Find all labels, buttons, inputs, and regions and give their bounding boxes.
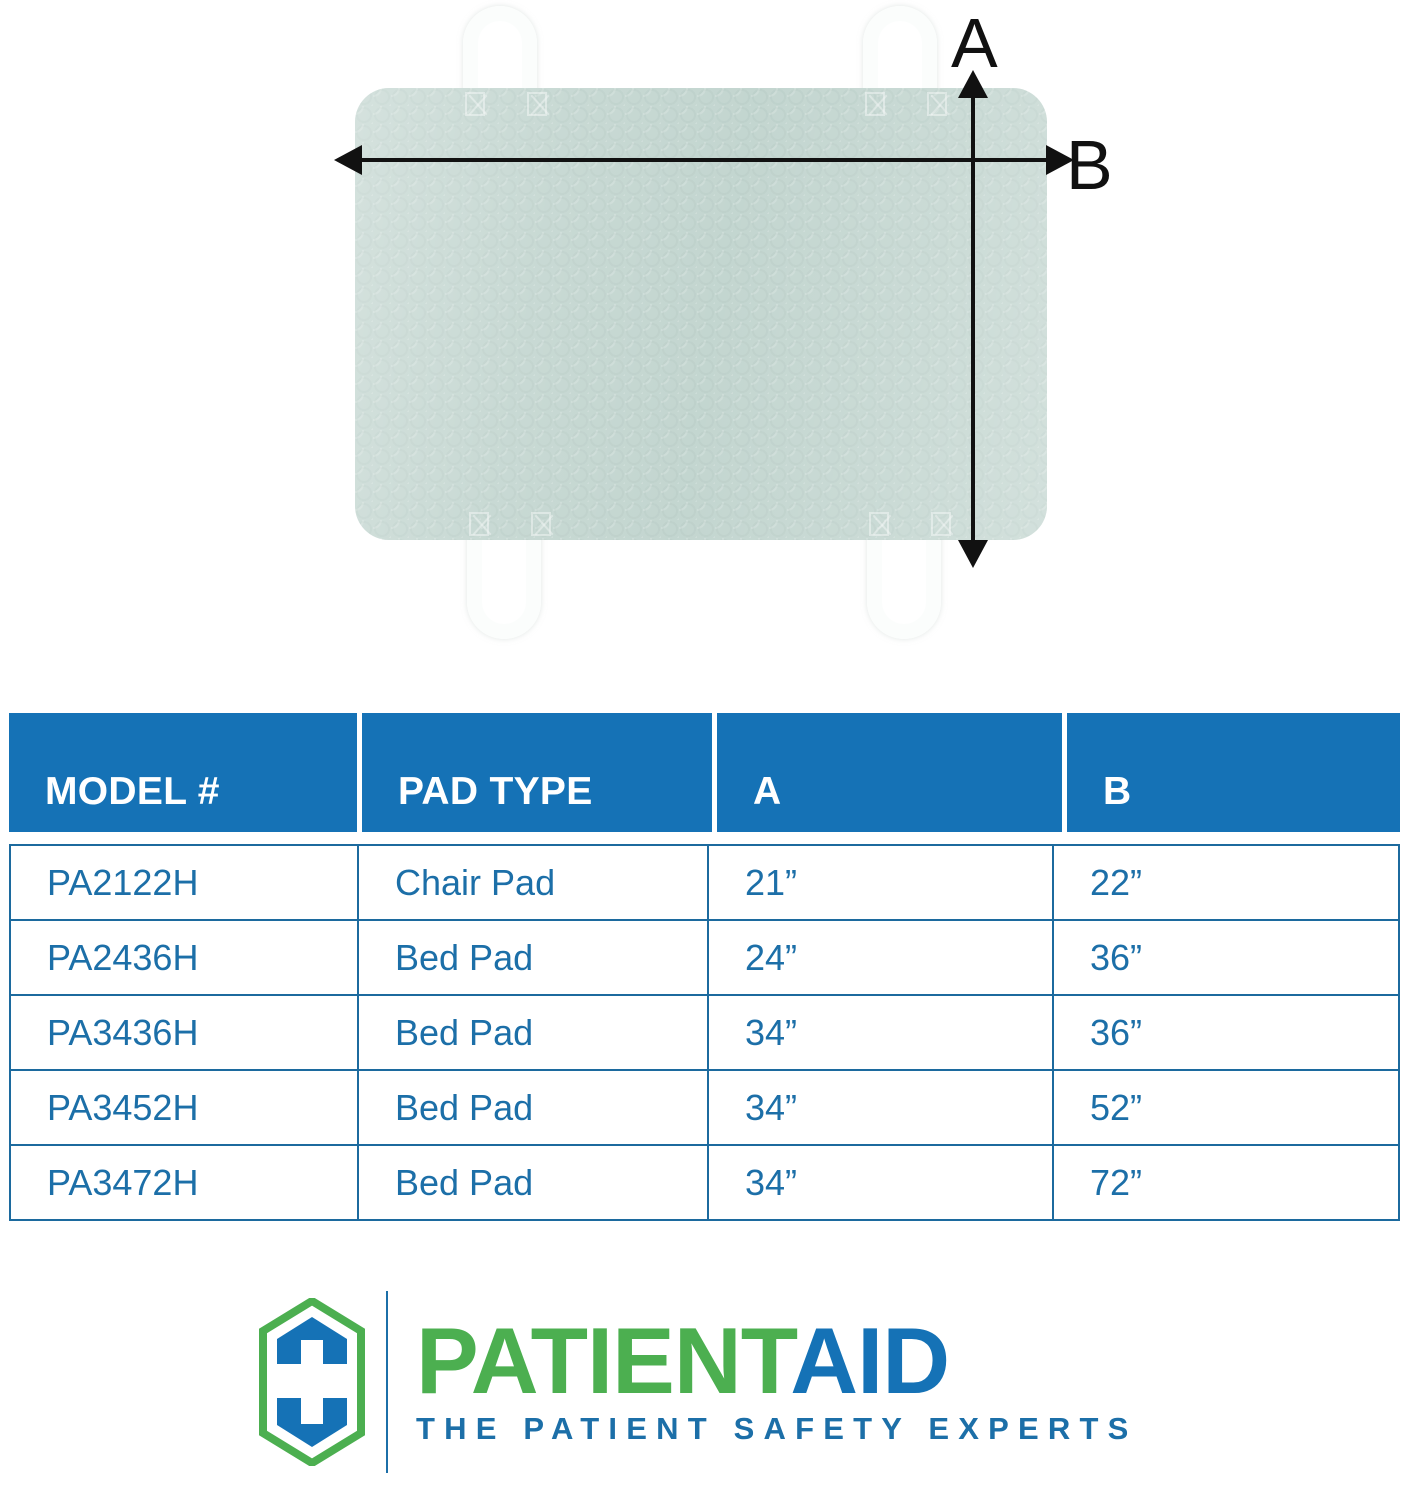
pad-stitch-tab: [927, 92, 947, 116]
pad-stitch-tab: [531, 512, 551, 536]
cell-pad-type: Bed Pad: [359, 1071, 709, 1144]
cell-dim-b: 36”: [1054, 996, 1398, 1069]
table-row: PA3472H Bed Pad 34” 72”: [11, 1146, 1398, 1219]
table-row: PA3436H Bed Pad 34” 36”: [11, 996, 1398, 1071]
cell-dim-b: 36”: [1054, 921, 1398, 994]
logo-word-aid: AID: [790, 1308, 949, 1413]
arrow-head-left-icon: [334, 145, 362, 175]
pad-stitch-tab: [869, 512, 889, 536]
cell-pad-type: Bed Pad: [359, 1146, 709, 1219]
arrow-head-down-icon: [958, 540, 988, 568]
cell-dim-b: 72”: [1054, 1146, 1398, 1219]
column-header-a: A: [717, 713, 1062, 832]
table-row: PA2436H Bed Pad 24” 36”: [11, 921, 1398, 996]
cell-pad-type: Bed Pad: [359, 921, 709, 994]
logo-divider: [386, 1291, 388, 1473]
cell-model: PA2436H: [11, 921, 359, 994]
pad-handle-bottom-left: [467, 527, 541, 639]
cell-dim-a: 34”: [709, 1146, 1054, 1219]
cell-dim-a: 34”: [709, 996, 1054, 1069]
logo-tagline: THE PATIENT SAFETY EXPERTS: [416, 1411, 1158, 1447]
cell-model: PA3452H: [11, 1071, 359, 1144]
medical-cross-hexagon-icon: [258, 1298, 366, 1466]
positioning-pad-body: [355, 88, 1047, 540]
cell-dim-a: 34”: [709, 1071, 1054, 1144]
cell-pad-type: Bed Pad: [359, 996, 709, 1069]
cell-pad-type: Chair Pad: [359, 846, 709, 919]
column-header-pad-type: PAD TYPE: [362, 713, 712, 832]
product-diagram: A B: [0, 0, 1408, 700]
column-header-model: MODEL #: [9, 713, 357, 832]
pad-handle-bottom-right: [867, 527, 941, 639]
table-header-row: MODEL # PAD TYPE A B: [9, 713, 1400, 832]
logo-word-patient: PATIENT: [416, 1308, 790, 1413]
logo-wordmark: PATIENTAID: [416, 1317, 1158, 1405]
pad-stitch-tab: [931, 512, 951, 536]
pad-size-table: MODEL # PAD TYPE A B PA2122H Chair Pad 2…: [9, 713, 1400, 1221]
cell-dim-a: 21”: [709, 846, 1054, 919]
cell-dim-a: 24”: [709, 921, 1054, 994]
pad-stitch-tab: [469, 512, 489, 536]
pad-stitch-tab: [465, 92, 485, 116]
dimension-arrow-horizontal-b: [360, 158, 1048, 162]
brand-logo: PATIENTAID THE PATIENT SAFETY EXPERTS: [258, 1276, 1158, 1488]
cell-model: PA3436H: [11, 996, 359, 1069]
dimension-label-b: B: [1066, 130, 1113, 200]
size-chart-page: A B MODEL # PAD TYPE A B PA2122H Chair P…: [0, 0, 1408, 1500]
pad-sheen-overlay: [355, 88, 1047, 540]
dimension-label-a: A: [951, 8, 998, 78]
column-header-b: B: [1067, 713, 1400, 832]
cell-model: PA3472H: [11, 1146, 359, 1219]
table-row: PA2122H Chair Pad 21” 22”: [11, 846, 1398, 921]
dimension-arrow-vertical-a: [971, 96, 975, 542]
table-row: PA3452H Bed Pad 34” 52”: [11, 1071, 1398, 1146]
cell-dim-b: 22”: [1054, 846, 1398, 919]
cell-dim-b: 52”: [1054, 1071, 1398, 1144]
table-body: PA2122H Chair Pad 21” 22” PA2436H Bed Pa…: [9, 844, 1400, 1221]
pad-stitch-tab: [527, 92, 547, 116]
logo-text-block: PATIENTAID THE PATIENT SAFETY EXPERTS: [416, 1317, 1158, 1447]
cell-model: PA2122H: [11, 846, 359, 919]
pad-stitch-tab: [865, 92, 885, 116]
